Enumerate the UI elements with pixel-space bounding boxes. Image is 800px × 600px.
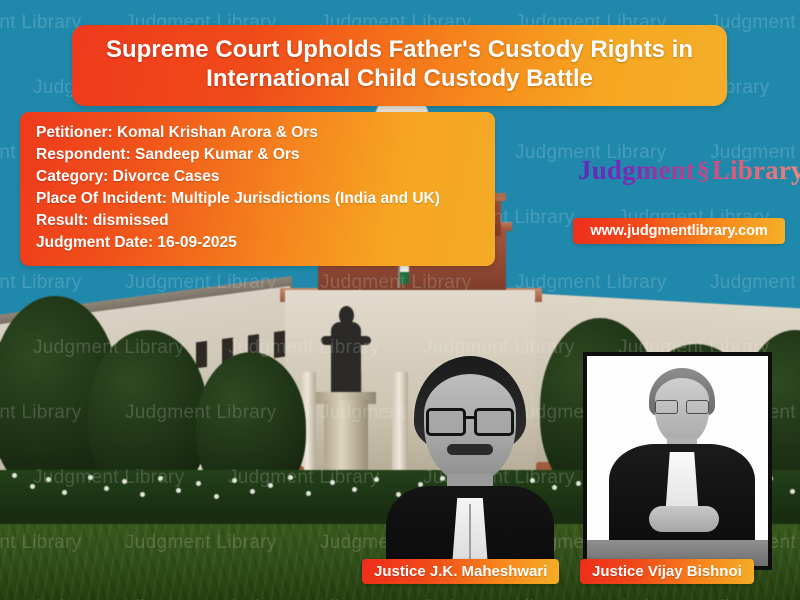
section-symbol-icon: § xyxy=(695,158,712,185)
hedge-flower xyxy=(214,494,219,499)
hedge-flower xyxy=(268,483,273,488)
eyeglasses-icon xyxy=(655,400,709,412)
headline-line-1: Supreme Court Upholds Father's Custody R… xyxy=(86,35,713,64)
hedge-flower xyxy=(12,473,17,478)
hedge-flower xyxy=(306,491,311,496)
headline-banner: Supreme Court Upholds Father's Custody R… xyxy=(72,25,727,106)
hedge-flower xyxy=(176,488,181,493)
hedge-flower xyxy=(46,477,51,482)
website-url-bar[interactable]: www.judgmentlibrary.com xyxy=(573,218,785,244)
judge-name-label-right: Justice Vijay Bishnoi xyxy=(580,559,754,584)
portrait-hands xyxy=(649,506,719,532)
brand-logo-word-1: Judgment xyxy=(578,155,695,185)
hedge-flower xyxy=(232,478,237,483)
hedge-flower xyxy=(88,475,93,480)
hedge-flower xyxy=(158,476,163,481)
judge-name-text: Justice J.K. Maheshwari xyxy=(374,563,547,580)
hedge-flower xyxy=(352,487,357,492)
hedge-flower xyxy=(104,486,109,491)
statue-body xyxy=(331,322,361,396)
portrait-moustache xyxy=(447,444,493,455)
case-details-panel: Petitioner: Komal Krishan Arora & Ors Re… xyxy=(20,112,495,266)
headline-line-2: International Child Custody Battle xyxy=(86,64,713,93)
brand-logo[interactable]: Judgment§Library xyxy=(578,155,800,186)
judicial-neck-bands xyxy=(664,452,700,512)
hedge-flower xyxy=(196,481,201,486)
hedge-flower xyxy=(30,484,35,489)
brand-logo-word-2: Library xyxy=(712,155,800,185)
judge-portrait-maheshwari xyxy=(362,352,577,570)
hedge-flower xyxy=(250,489,255,494)
hedge-flower xyxy=(790,489,795,494)
statue-arms xyxy=(321,336,371,345)
hedge-flower xyxy=(62,490,67,495)
case-detail-category: Category: Divorce Cases xyxy=(36,166,479,188)
case-detail-result: Result: dismissed xyxy=(36,210,479,232)
case-detail-place-of-incident: Place Of Incident: Multiple Jurisdiction… xyxy=(36,188,479,210)
hedge-flower xyxy=(140,492,145,497)
judge-name-label-left: Justice J.K. Maheshwari xyxy=(362,559,559,584)
case-detail-respondent: Respondent: Sandeep Kumar & Ors xyxy=(36,144,479,166)
hedge-flower xyxy=(330,480,335,485)
hedge-flower xyxy=(122,479,127,484)
hedge-flower xyxy=(288,475,293,480)
eyeglasses-icon xyxy=(424,408,516,430)
case-detail-petitioner: Petitioner: Komal Krishan Arora & Ors xyxy=(36,122,479,144)
judge-portrait-bishnoi xyxy=(583,352,772,570)
statue-head xyxy=(339,306,354,325)
judgment-poster: Judgment LibraryJudgment LibraryJudgment… xyxy=(0,0,800,600)
case-detail-judgment-date: Judgment Date: 16-09-2025 xyxy=(36,232,479,254)
judge-name-text: Justice Vijay Bishnoi xyxy=(592,563,742,580)
website-url-text: www.judgmentlibrary.com xyxy=(590,223,767,239)
